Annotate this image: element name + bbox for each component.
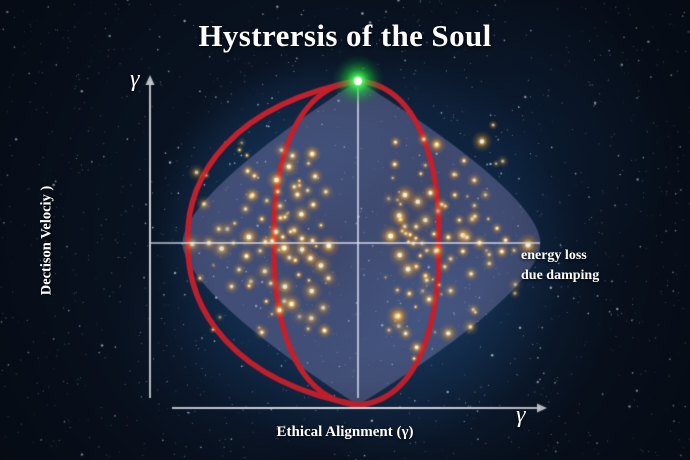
y-axis-tip-symbol: γ	[130, 66, 139, 93]
energy-loss-annotation: energy lossdue damping	[521, 246, 599, 287]
annotation-line-1: energy loss	[521, 248, 587, 263]
hysteresis-plot	[0, 0, 690, 460]
annotation-line-2: due damping	[521, 268, 599, 283]
page-title: Hystrersis of the Soul	[0, 18, 690, 54]
x-axis-label: Ethical Alignment (γ)	[0, 424, 690, 441]
figure-canvas: Hystrersis of the Soul Ethical Alignment…	[0, 0, 690, 460]
x-axis-tip-symbol: γ	[516, 402, 525, 429]
y-axis-label: Dectison Velociy )	[39, 131, 56, 351]
